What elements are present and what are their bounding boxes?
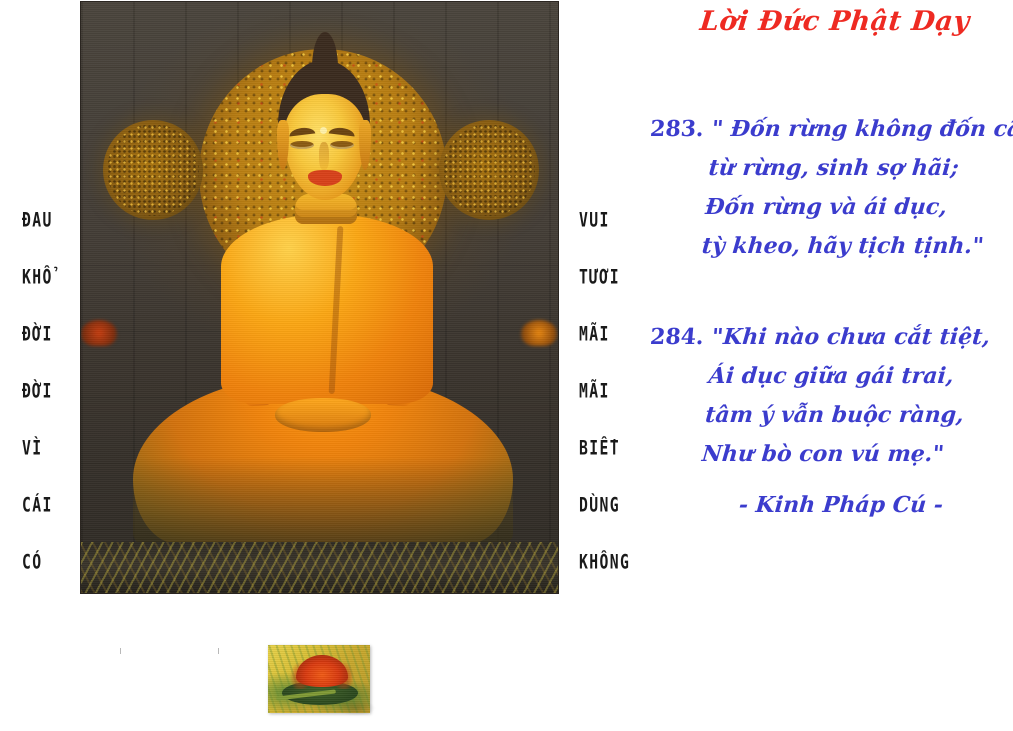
- left-word-column: ĐAU KHỔ ĐỜI ĐỜI VÌ CÁI CÓ: [22, 196, 82, 595]
- lap-shadow: [133, 457, 513, 545]
- verse-284-line-1: 284."Khi nào chưa cắt tiệt,: [648, 318, 991, 357]
- buddha-statue-photo: [81, 2, 558, 593]
- lotus-drop-shadow: [336, 700, 376, 716]
- verse-284-line-3: tâm ý vẫn buộc ràng,: [642, 396, 985, 435]
- verse-284-number: 284.: [649, 324, 705, 350]
- verse-283: 283." Đốn rừng không đốn cây từ rừng, si…: [638, 110, 1013, 266]
- source-attribution: - Kinh Pháp Cú -: [738, 492, 944, 518]
- verse-283-line-3: Đốn rừng và ái dục,: [642, 188, 1013, 227]
- buddha-pedestal: [81, 542, 558, 593]
- buddha-eye-left: [290, 141, 314, 149]
- rosette-ornament-right: [439, 120, 539, 220]
- rosette-ornament-left: [103, 120, 203, 220]
- buddha-hands-mudra: [275, 398, 371, 432]
- verse-284-line-4: Như bò con vú mẹ.": [638, 435, 981, 474]
- verse-284-line-2: Ái dục giữa gái trai,: [645, 357, 988, 396]
- verse-283-text-1: " Đốn rừng không đốn cây: [711, 116, 1013, 142]
- middle-word-7: KHÔNG: [579, 538, 653, 608]
- scan-tick-right: [218, 648, 219, 654]
- buddha-urna: [320, 127, 327, 134]
- flower-offering-right: [521, 320, 557, 346]
- scan-tick-left: [120, 648, 121, 654]
- page-title: Lời Đức Phật Dạy: [698, 6, 971, 37]
- verse-283-line-1: 283." Đốn rừng không đốn cây: [648, 110, 1013, 149]
- buddha-eye-right: [330, 141, 354, 149]
- verse-284-text-1: "Khi nào chưa cắt tiệt,: [711, 324, 992, 350]
- buddha-nose: [319, 142, 329, 170]
- buddha-torso: [221, 214, 433, 404]
- flower-offering-left: [81, 320, 117, 346]
- verse-283-line-4: tỳ kheo, hãy tịch tịnh.": [638, 227, 1013, 266]
- verse-283-number: 283.: [649, 116, 705, 142]
- left-word-7: CÓ: [22, 538, 77, 608]
- verse-284: 284."Khi nào chưa cắt tiệt, Ái dục giữa …: [638, 318, 992, 474]
- verse-283-line-2: từ rừng, sinh sợ hãi;: [645, 149, 1013, 188]
